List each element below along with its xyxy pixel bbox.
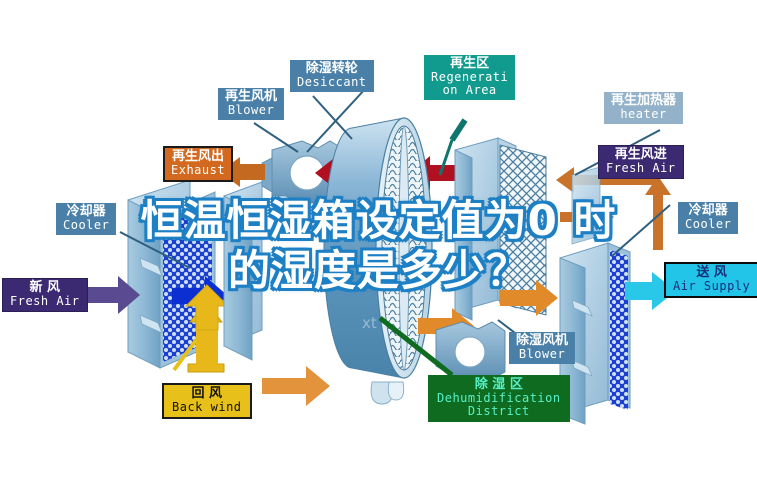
label-desiccant-wheel: 除湿转轮 Desiccant (290, 60, 374, 92)
label-cooler-left: 冷却器 Cooler (56, 203, 116, 235)
label-dehumidification-district-en2: District (437, 405, 561, 418)
label-cooler-left-en: Cooler (63, 219, 109, 232)
label-regen-blower: 再生风机 Blower (218, 88, 284, 120)
label-fresh-air: 新 风 Fresh Air (2, 278, 88, 312)
label-cooler-right: 冷却器 Cooler (678, 202, 738, 234)
label-back-wind-en: Back wind (172, 401, 242, 414)
label-air-supply-en: Air Supply (673, 280, 750, 293)
label-back-wind: 回 风 Back wind (162, 383, 252, 419)
left-duct-block (224, 182, 262, 360)
label-dehum-blower-en: Blower (516, 348, 568, 361)
regen-fresh-air-block (572, 167, 600, 244)
label-regen-heater: 再生加热器 heater (604, 92, 683, 124)
label-regeneration-area-en2: on Area (431, 84, 508, 97)
label-back-wind-cn: 回 风 (172, 387, 242, 401)
label-desiccant-wheel-en: Desiccant (297, 76, 367, 89)
label-cooler-left-upper-cn: 冷却器 (150, 201, 189, 215)
label-regen-exhaust: 再生风出 Exhaust (163, 146, 233, 182)
label-dehum-blower: 除湿风机 Blower (509, 332, 575, 364)
label-regen-heater-en: heater (611, 108, 676, 121)
label-cooler-left-cn: 冷却器 (63, 205, 109, 219)
label-regen-heater-cn: 再生加热器 (611, 94, 676, 108)
label-dehumidification-district-cn: 除 湿 区 (437, 378, 561, 392)
label-fresh-air-en: Fresh Air (10, 295, 80, 308)
label-air-supply: 送 风 Air Supply (664, 262, 757, 298)
label-cooler-left-upper: 冷却器 (143, 199, 196, 218)
svg-text:xt: xt (362, 314, 377, 332)
label-regeneration-area-cn: 再生区 (431, 57, 508, 71)
label-fresh-air-cn: 新 风 (10, 281, 80, 295)
label-regen-fresh-air-cn: 再生风进 (606, 148, 676, 162)
diagram-canvas: xt (0, 0, 757, 488)
label-cooler-right-cn: 冷却器 (685, 204, 731, 218)
label-regen-fresh-air-en: Fresh Air (606, 162, 676, 175)
label-desiccant-wheel-cn: 除湿转轮 (297, 62, 367, 76)
label-regen-fresh-air: 再生风进 Fresh Air (598, 145, 684, 179)
label-regeneration-area: 再生区 Regenerati on Area (424, 55, 515, 100)
label-cooler-right-en: Cooler (685, 218, 731, 231)
label-regen-blower-en: Blower (225, 104, 277, 117)
label-regen-exhaust-cn: 再生风出 (171, 150, 225, 164)
desiccant-rotor: xt (324, 118, 432, 404)
dehumidifier-schematic-illustration: xt (0, 0, 757, 488)
label-dehum-blower-cn: 除湿风机 (516, 334, 568, 348)
label-dehumidification-district: 除 湿 区 Dehumidification District (428, 375, 570, 422)
label-air-supply-cn: 送 风 (673, 266, 750, 280)
label-regen-blower-cn: 再生风机 (225, 90, 277, 104)
label-regen-exhaust-en: Exhaust (171, 164, 225, 177)
